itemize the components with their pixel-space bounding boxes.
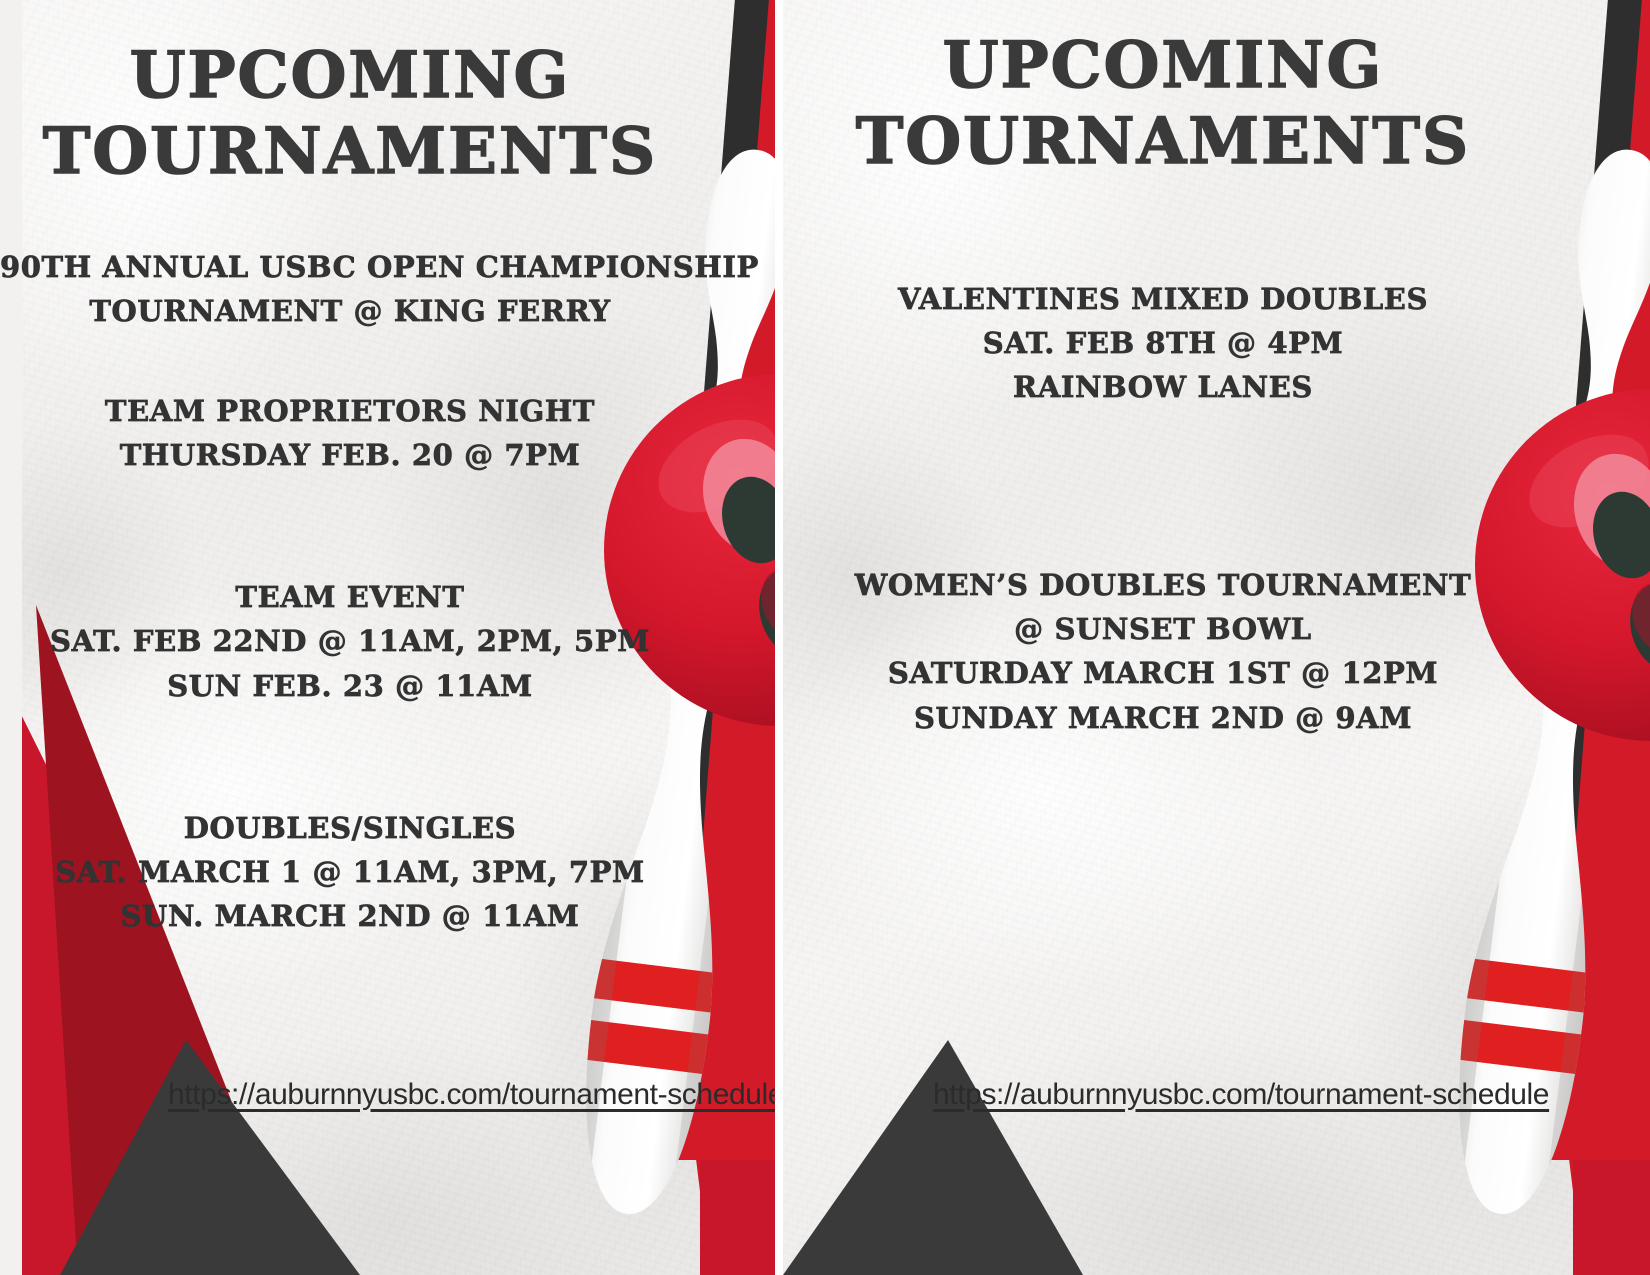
panel-divider [775,0,783,1275]
page-title: UPCOMING TOURNAMENTS [0,0,700,189]
event-line: SUNDAY MARCH 2ND @ 9AM [813,696,1513,740]
event-block-proprietors-night: TEAM PROPRIETORS NIGHT THURSDAY FEB. 20 … [0,389,700,477]
event-line: SUN FEB. 23 @ 11AM [0,664,700,708]
tournament-schedule-link[interactable]: https://auburnnyusbc.com/tournament-sche… [933,1078,1549,1112]
event-line: SATURDAY MARCH 1ST @ 12PM [813,651,1513,695]
flyer-left: UPCOMING TOURNAMENTS 90TH ANNUAL USBC OP… [0,0,775,1275]
event-block-womens-doubles: WOMEN’S DOUBLES TOURNAMENT @ SUNSET BOWL… [813,563,1513,739]
event-line: WOMEN’S DOUBLES TOURNAMENT [813,563,1513,607]
headline-line-2: TOURNAMENTS [0,114,700,190]
event-block-team-event: TEAM EVENT SAT. FEB 22ND @ 11AM, 2PM, 5P… [0,575,700,707]
event-line: RAINBOW LANES [813,365,1513,409]
event-line: TEAM PROPRIETORS NIGHT [0,389,700,433]
headline-line-1: UPCOMING [943,28,1384,103]
event-line: DOUBLES/SINGLES [0,806,700,850]
event-line: SAT. FEB 22ND @ 11AM, 2PM, 5PM [0,619,700,663]
event-line: TOURNAMENT @ KING FERRY [0,289,700,333]
event-line: SAT. MARCH 1 @ 11AM, 3PM, 7PM [0,850,700,894]
event-line: SAT. FEB 8TH @ 4PM [813,321,1513,365]
flyer-left-content: UPCOMING TOURNAMENTS 90TH ANNUAL USBC OP… [0,0,700,938]
flyer-right-content: UPCOMING TOURNAMENTS VALENTINES MIXED DO… [813,0,1513,740]
event-block-doubles-singles: DOUBLES/SINGLES SAT. MARCH 1 @ 11AM, 3PM… [0,806,700,938]
page-title: UPCOMING TOURNAMENTS [813,0,1513,179]
event-block-usbc-open: 90TH ANNUAL USBC OPEN CHAMPIONSHIP TOURN… [0,245,700,333]
flyer-right: UPCOMING TOURNAMENTS VALENTINES MIXED DO… [783,0,1650,1275]
event-line: SUN. MARCH 2ND @ 11AM [0,894,700,938]
headline-line-1: UPCOMING [130,38,571,113]
tournament-schedule-link[interactable]: https://auburnnyusbc.com/tournament-sche… [168,1078,775,1112]
event-line: @ SUNSET BOWL [813,607,1513,651]
flyer-pair-canvas: UPCOMING TOURNAMENTS 90TH ANNUAL USBC OP… [0,0,1650,1275]
event-block-valentines-mixed-doubles: VALENTINES MIXED DOUBLES SAT. FEB 8TH @ … [813,277,1513,409]
event-line: VALENTINES MIXED DOUBLES [813,277,1513,321]
event-line: TEAM EVENT [0,575,700,619]
event-line: 90TH ANNUAL USBC OPEN CHAMPIONSHIP [0,245,700,289]
event-line: THURSDAY FEB. 20 @ 7PM [0,433,700,477]
headline-line-2: TOURNAMENTS [813,104,1513,180]
